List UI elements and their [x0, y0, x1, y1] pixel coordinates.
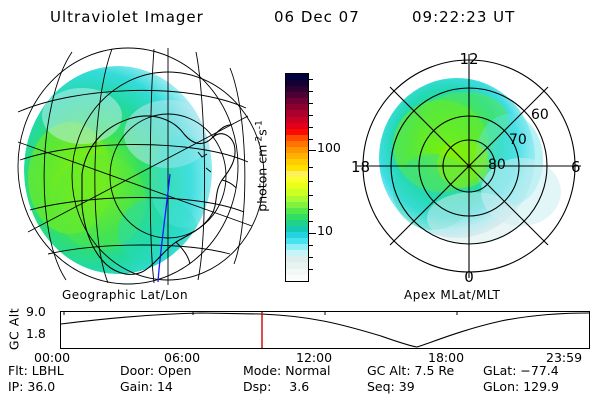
- timeseries-plot-frame[interactable]: [60, 311, 590, 349]
- status-gain-value: 14: [157, 379, 173, 394]
- observation-time: 09:22:23 UT: [412, 8, 515, 26]
- colorbar-title-exp1: -2: [254, 136, 264, 145]
- observation-date: 06 Dec 07: [274, 8, 360, 26]
- status-dsp-label: Dsp:: [243, 379, 271, 394]
- status-glat: GLat: −77.4: [483, 363, 559, 378]
- colorbar-title-mid: s: [255, 129, 270, 136]
- colorbar-minor-tick: [309, 139, 313, 140]
- geographic-globe: [8, 42, 266, 290]
- colorbar-minor-tick: [309, 221, 313, 222]
- colorbar-title-main: photon cm: [255, 145, 270, 212]
- magnetic-dial-panel[interactable]: 12 18 6 0 60 70 80: [345, 42, 593, 290]
- mlat-label-70: 70: [509, 132, 527, 148]
- mlat-label-60: 60: [531, 107, 549, 123]
- colorbar-ticks: [309, 73, 316, 280]
- colorbar-minor-tick: [309, 115, 313, 116]
- status-gc-alt-value: 7.5 Re: [415, 363, 455, 378]
- timeseries-ytick-top: 9.0: [26, 304, 46, 319]
- colorbar-minor-tick: [309, 269, 313, 270]
- status-seq-value: 39: [399, 379, 415, 394]
- instrument-name: Ultraviolet Imager: [50, 8, 204, 26]
- colorbar-minor-tick: [309, 245, 313, 246]
- status-filter-value: LBHL: [32, 363, 64, 378]
- status-ip-value: 36.0: [27, 379, 55, 394]
- status-gain: Gain: 14: [120, 379, 173, 394]
- status-seq-label: Seq:: [367, 379, 395, 394]
- status-mode-value: Normal: [285, 363, 330, 378]
- status-dsp-value: 3.6: [289, 379, 309, 394]
- status-door: Door: Open: [120, 363, 191, 378]
- colorbar-tick-label-10: 10: [317, 225, 333, 238]
- status-glat-label: GLat:: [483, 363, 516, 378]
- timeseries-ytick-bottom: 1.8: [26, 326, 46, 341]
- mlat-label-80: 80: [488, 157, 506, 173]
- colorbar-gradient[interactable]: [285, 73, 309, 282]
- status-glon: GLon: 129.9: [483, 379, 559, 394]
- mlt-grid: [357, 54, 581, 278]
- mlt-dial: 12 18 6 0 60 70 80: [345, 42, 593, 290]
- status-glat-value: −77.4: [520, 363, 558, 378]
- mlt-label-18: 18: [351, 158, 370, 176]
- colorbar-minor-tick: [309, 79, 313, 80]
- status-ip-label: IP:: [8, 379, 23, 394]
- status-gain-label: Gain:: [120, 379, 153, 394]
- status-glon-label: GLon:: [483, 379, 519, 394]
- colorbar-major-tick: [309, 233, 316, 234]
- status-gc-alt-label: GC Alt:: [367, 363, 411, 378]
- status-door-label: Door:: [120, 363, 154, 378]
- status-glon-value: 129.9: [523, 379, 559, 394]
- mlt-label-0: 0: [464, 268, 474, 286]
- colorbar-axis-title: photon cm-2s-1: [254, 120, 269, 211]
- colorbar-minor-tick: [309, 167, 313, 168]
- status-seq: Seq: 39: [367, 379, 415, 394]
- colorbar-minor-tick: [309, 91, 313, 92]
- status-bar: Flt: LBHL IP: 36.0 Door: Open Gain: 14 M…: [0, 363, 600, 399]
- status-mode: Mode: Normal: [243, 363, 331, 378]
- colorbar-group: photon cm-2s-1 100 10: [266, 62, 342, 292]
- status-dsp: Dsp: 3.6: [243, 379, 309, 394]
- colorbar-tick-label-100: 100: [317, 142, 341, 155]
- mlt-label-12: 12: [459, 50, 478, 68]
- geographic-image-panel[interactable]: [8, 42, 266, 290]
- colorbar-major-tick: [309, 150, 316, 151]
- colorbar-segment: [286, 275, 308, 281]
- colorbar-minor-tick: [309, 257, 313, 258]
- mlt-label-6: 6: [571, 158, 581, 176]
- colorbar-minor-tick: [309, 209, 313, 210]
- colorbar-minor-tick: [309, 127, 313, 128]
- status-gc-alt: GC Alt: 7.5 Re: [367, 363, 454, 378]
- status-mode-label: Mode:: [243, 363, 281, 378]
- status-door-value: Open: [158, 363, 191, 378]
- timeseries-curve: [61, 312, 589, 348]
- colorbar-minor-tick: [309, 181, 313, 182]
- colorbar-minor-tick: [309, 195, 313, 196]
- colorbar-title-exp2: -1: [254, 120, 264, 129]
- title-bar: Ultraviolet Imager 06 Dec 07 09:22:23 UT: [0, 6, 600, 30]
- altitude-timeseries[interactable]: GC Alt 9.0 1.8 00:00 06:00 12:00 18:00 2…: [0, 300, 600, 358]
- status-filter-label: Flt:: [8, 363, 28, 378]
- colorbar-minor-tick: [309, 103, 313, 104]
- status-filter: Flt: LBHL: [8, 363, 64, 378]
- timeseries-y-axis-label: GC Alt: [7, 308, 22, 350]
- status-ip: IP: 36.0: [8, 379, 55, 394]
